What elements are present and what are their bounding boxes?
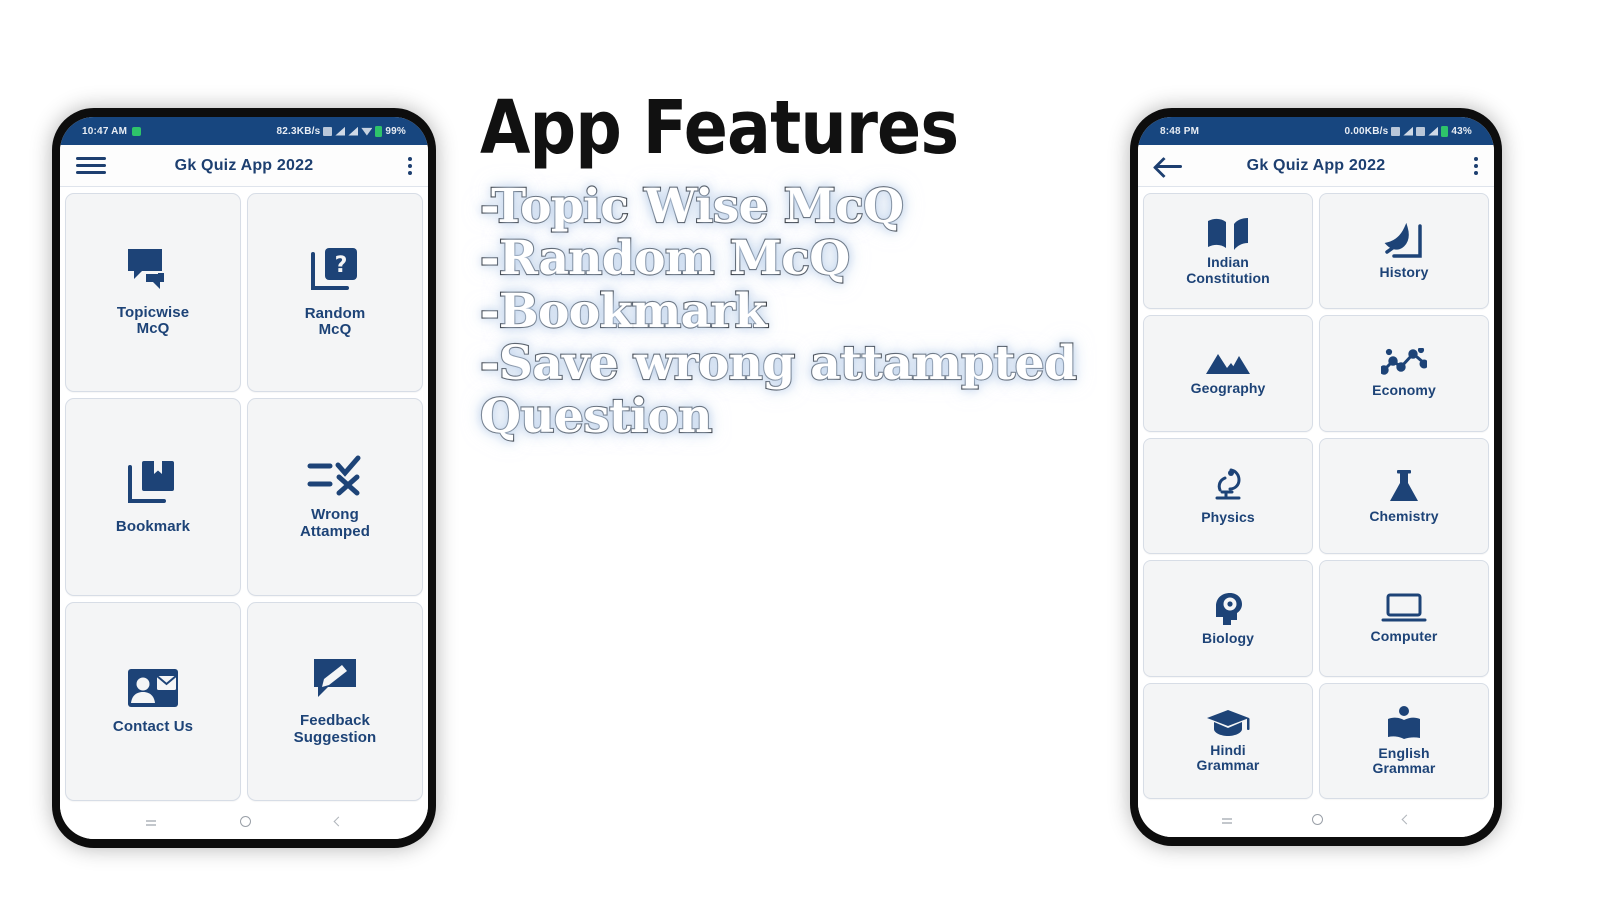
tile-label: HindiGrammar [1197,743,1260,774]
hamburger-line [76,164,106,167]
left-nav-bar [60,803,428,839]
signal-icon [335,127,345,136]
kebab-dot [1474,164,1478,168]
promo-banner: 10:47 AM 82.3KB/s 99% [0,0,1600,900]
flask-icon [1386,468,1422,504]
tile-label: RandomMcQ [305,306,366,340]
feedback-pencil-icon [310,657,360,703]
tile-label: Economy [1372,383,1436,399]
tile-english-grammar[interactable]: EnglishGrammar [1319,683,1489,799]
tile-label: TopicwiseMcQ [117,305,189,339]
contact-card-icon [126,667,180,709]
wifi-icon [361,127,372,136]
left-app-bar: Gk Quiz App 2022 [60,145,428,187]
home-icon[interactable] [1312,814,1323,825]
signal-2-icon [1428,127,1438,136]
status-battery-percent: 43% [1451,126,1472,137]
tile-biology[interactable]: Biology [1143,560,1313,676]
kebab-dot [1474,171,1478,175]
back-icon[interactable] [1402,814,1412,824]
hamburger-icon[interactable] [76,157,110,174]
right-nav-bar [1138,801,1494,837]
tile-random-mcq[interactable]: ? RandomMcQ [247,193,423,392]
feature-item: -Topic Wise McQ [480,181,1100,234]
left-phone-screen: 10:47 AM 82.3KB/s 99% [60,117,428,839]
right-phone-screen: 8:48 PM 0.00KB/s 43% Gk Quiz App 2022 [1138,117,1494,837]
page-title: Gk Quiz App 2022 [60,157,428,175]
promo-text-block: App Features -Topic Wise McQ -Random McQ… [480,92,1100,444]
tile-label: Computer [1371,629,1438,645]
tile-label: Physics [1201,510,1255,526]
kebab-dot [408,157,412,161]
feature-item: -Random McQ [480,233,1100,286]
status-network-speed: 82.3KB/s [277,126,321,137]
tile-topicwise-mcq[interactable]: TopicwiseMcQ [65,193,241,392]
status-time: 8:48 PM [1160,126,1199,137]
feature-item: -Bookmark [480,286,1100,339]
tile-computer[interactable]: Computer [1319,560,1489,676]
tile-indian-constitution[interactable]: IndianConstitution [1143,193,1313,309]
headline: App Features [480,92,1026,165]
status-bar-left: 10:47 AM [82,126,141,137]
tile-wrong-attamped[interactable]: WrongAttamped [247,398,423,597]
feature-list: -Topic Wise McQ -Random McQ -Bookmark -S… [480,181,1100,444]
right-status-bar: 8:48 PM 0.00KB/s 43% [1138,117,1494,145]
status-battery-percent: 99% [385,126,406,137]
tile-history[interactable]: History [1319,193,1489,309]
question-card-icon: ? [309,246,361,296]
status-bar-right: 0.00KB/s 43% [1345,126,1472,137]
tile-economy[interactable]: Economy [1319,315,1489,431]
check-cross-list-icon [307,453,363,497]
kebab-dot [1474,157,1478,161]
sim-icon [323,127,332,136]
tile-label: FeedbackSuggestion [294,713,377,747]
open-book-icon [1206,216,1250,250]
right-phone-mockup: 8:48 PM 0.00KB/s 43% Gk Quiz App 2022 [1130,108,1502,846]
battery-icon [1441,126,1448,137]
recents-icon[interactable] [146,820,156,822]
kebab-menu-icon[interactable] [1474,157,1478,175]
right-app-bar: Gk Quiz App 2022 [1138,145,1494,187]
person-reading-icon [1386,705,1422,741]
recents-icon[interactable] [1222,818,1232,820]
signal-2-icon [348,127,358,136]
brain-head-icon [1210,590,1246,626]
battery-icon [375,126,382,137]
page-title: Gk Quiz App 2022 [1138,157,1494,175]
status-bar-right: 82.3KB/s 99% [277,126,406,137]
status-network-speed: 0.00KB/s [1345,126,1389,137]
kebab-dot [408,164,412,168]
svg-text:?: ? [335,253,348,278]
chat-bubbles-icon [126,247,180,295]
feature-item: -Save wrong attampted [480,338,1100,391]
status-indicator-icon [132,127,141,136]
tile-label: History [1380,265,1429,281]
tile-chemistry[interactable]: Chemistry [1319,438,1489,554]
tile-physics[interactable]: Physics [1143,438,1313,554]
tile-label: EnglishGrammar [1373,746,1436,777]
microscope-icon [1209,467,1247,505]
hamburger-line [76,157,106,160]
tile-hindi-grammar[interactable]: HindiGrammar [1143,683,1313,799]
graduation-cap-icon [1206,708,1250,738]
laptop-icon [1381,592,1427,624]
status-time: 10:47 AM [82,126,127,137]
right-tile-grid: IndianConstitution History [1138,187,1494,801]
kebab-menu-icon[interactable] [408,157,412,175]
sim-2-icon [1416,127,1425,136]
back-arrow-icon[interactable] [1154,154,1186,178]
sim-icon [1391,127,1400,136]
left-tile-grid: TopicwiseMcQ ? RandomMcQ [60,187,428,803]
tile-feedback-suggestion[interactable]: FeedbackSuggestion [247,602,423,801]
bookmark-book-icon [126,459,180,509]
tile-label: Contact Us [113,719,193,736]
tile-bookmark[interactable]: Bookmark [65,398,241,597]
quill-writing-icon [1384,222,1424,260]
line-chart-icon [1381,348,1427,378]
tile-label: WrongAttamped [300,507,370,541]
tile-label: Chemistry [1369,509,1438,525]
left-phone-mockup: 10:47 AM 82.3KB/s 99% [52,108,436,848]
tile-label: Geography [1191,381,1266,397]
home-icon[interactable] [240,816,251,827]
left-status-bar: 10:47 AM 82.3KB/s 99% [60,117,428,145]
mountains-icon [1205,350,1251,376]
back-icon[interactable] [334,816,344,826]
status-bar-left: 8:48 PM [1160,126,1199,137]
tile-label: Bookmark [116,519,190,536]
feature-item: Question [480,391,1100,444]
hamburger-line [76,171,106,174]
tile-label: Biology [1202,631,1254,647]
signal-icon [1403,127,1413,136]
tile-label: IndianConstitution [1186,255,1270,286]
tile-geography[interactable]: Geography [1143,315,1313,431]
kebab-dot [408,171,412,175]
tile-contact-us[interactable]: Contact Us [65,602,241,801]
